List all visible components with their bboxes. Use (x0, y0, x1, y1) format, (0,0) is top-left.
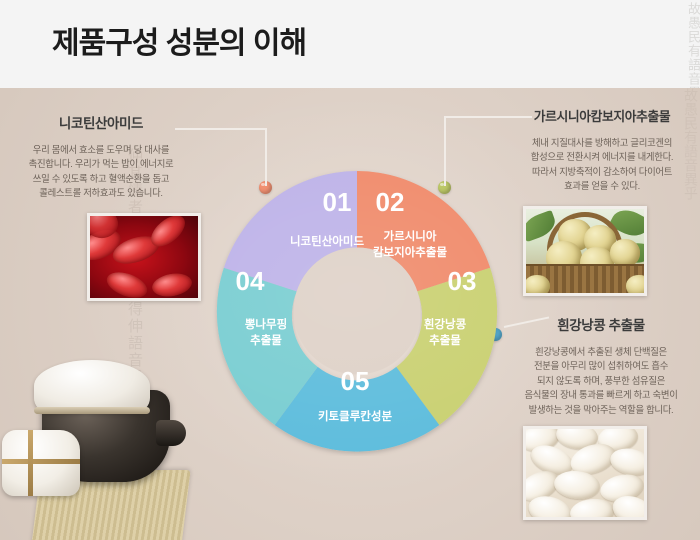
connector-line-vertical (444, 116, 446, 186)
herb-bundle-string-v (28, 430, 33, 496)
page-title: 제품구성 성분의 이해 (52, 18, 306, 62)
info-title-nicotinamide: 니코틴산아미드 (18, 112, 184, 132)
connector-line-vertical (265, 128, 267, 186)
red-blood-cells-photo (87, 213, 201, 301)
header-gradient-fade (435, 0, 700, 88)
info-body-nicotinamide: 우리 몸에서 효소를 도우며 당 대사를 촉진합니다. 우리가 먹는 밥이 에너… (18, 143, 184, 201)
segment-label-02-line2: 캄보지아추출물 (373, 245, 447, 259)
herbal-medicine-decoration (0, 310, 190, 540)
segment-label-02-line1: 가르시니아 (384, 229, 437, 243)
info-body-white-bean: 흰강낭콩에서 추출된 생체 단백질은 전분을 아무리 많이 섭취하여도 흡수 되… (508, 345, 694, 417)
donut-center-hole (294, 248, 421, 375)
info-body-garcinia: 체내 지질대사를 방해하고 글리코겐의 합성으로 전환시켜 에너지를 내게한다.… (512, 136, 692, 194)
segment-number-03: 03 (448, 266, 477, 296)
white-kidney-beans-image (526, 429, 644, 517)
medicine-pot-tie-string (34, 407, 150, 414)
segment-label-03-line1: 흰강낭콩 (424, 317, 467, 331)
segment-label-04-line2: 추출물 (250, 333, 282, 347)
segment-number-05: 05 (341, 366, 370, 396)
segment-number-02: 02 (376, 187, 405, 217)
info-title-garcinia: 가르시니아캄보지아추출물 (512, 106, 692, 125)
white-kidney-beans-photo (523, 426, 647, 520)
garcinia-fruit-image (526, 209, 644, 293)
segment-label-05: 키토클루칸성분 (318, 409, 392, 423)
info-block-garcinia: 가르시니아캄보지아추출물 체내 지질대사를 방해하고 글리코겐의 합성으로 전환… (512, 106, 692, 194)
info-block-nicotinamide: 니코틴산아미드 우리 몸에서 효소를 도우며 당 대사를 촉진합니다. 우리가 … (18, 112, 184, 201)
red-blood-cells-image (90, 216, 198, 298)
medicine-pot-spout (156, 420, 186, 446)
info-title-white-bean: 흰강낭콩 추출물 (508, 314, 694, 334)
herb-bundle-string-h (2, 459, 80, 464)
medicine-pot-cloth-lid (34, 360, 150, 412)
infographic-stage: 仲其情者有故愚民不得伸語音異乎中國與文字不相流通高麗朝鮮之語 故愚民有語音異乎 (0, 88, 700, 540)
segment-label-01: 니코틴산아미드 (290, 234, 364, 248)
connector-line-horizontal (175, 128, 267, 130)
segment-number-01: 01 (323, 187, 352, 217)
segment-label-03-line2: 추출물 (429, 333, 461, 347)
segment-label-04-line1: 뽕나무핑 (245, 317, 287, 331)
garcinia-fruit-basket-photo (523, 206, 647, 296)
info-block-white-bean: 흰강낭콩 추출물 흰강낭콩에서 추출된 생체 단백질은 전분을 아무리 많이 섭… (508, 314, 694, 417)
page-header: 故愚民有語音異乎中國與文字不相流通故愚民有所欲言而終不得伸其情者多矣予爲此憫然新… (0, 0, 700, 88)
segment-number-04: 04 (236, 266, 265, 296)
